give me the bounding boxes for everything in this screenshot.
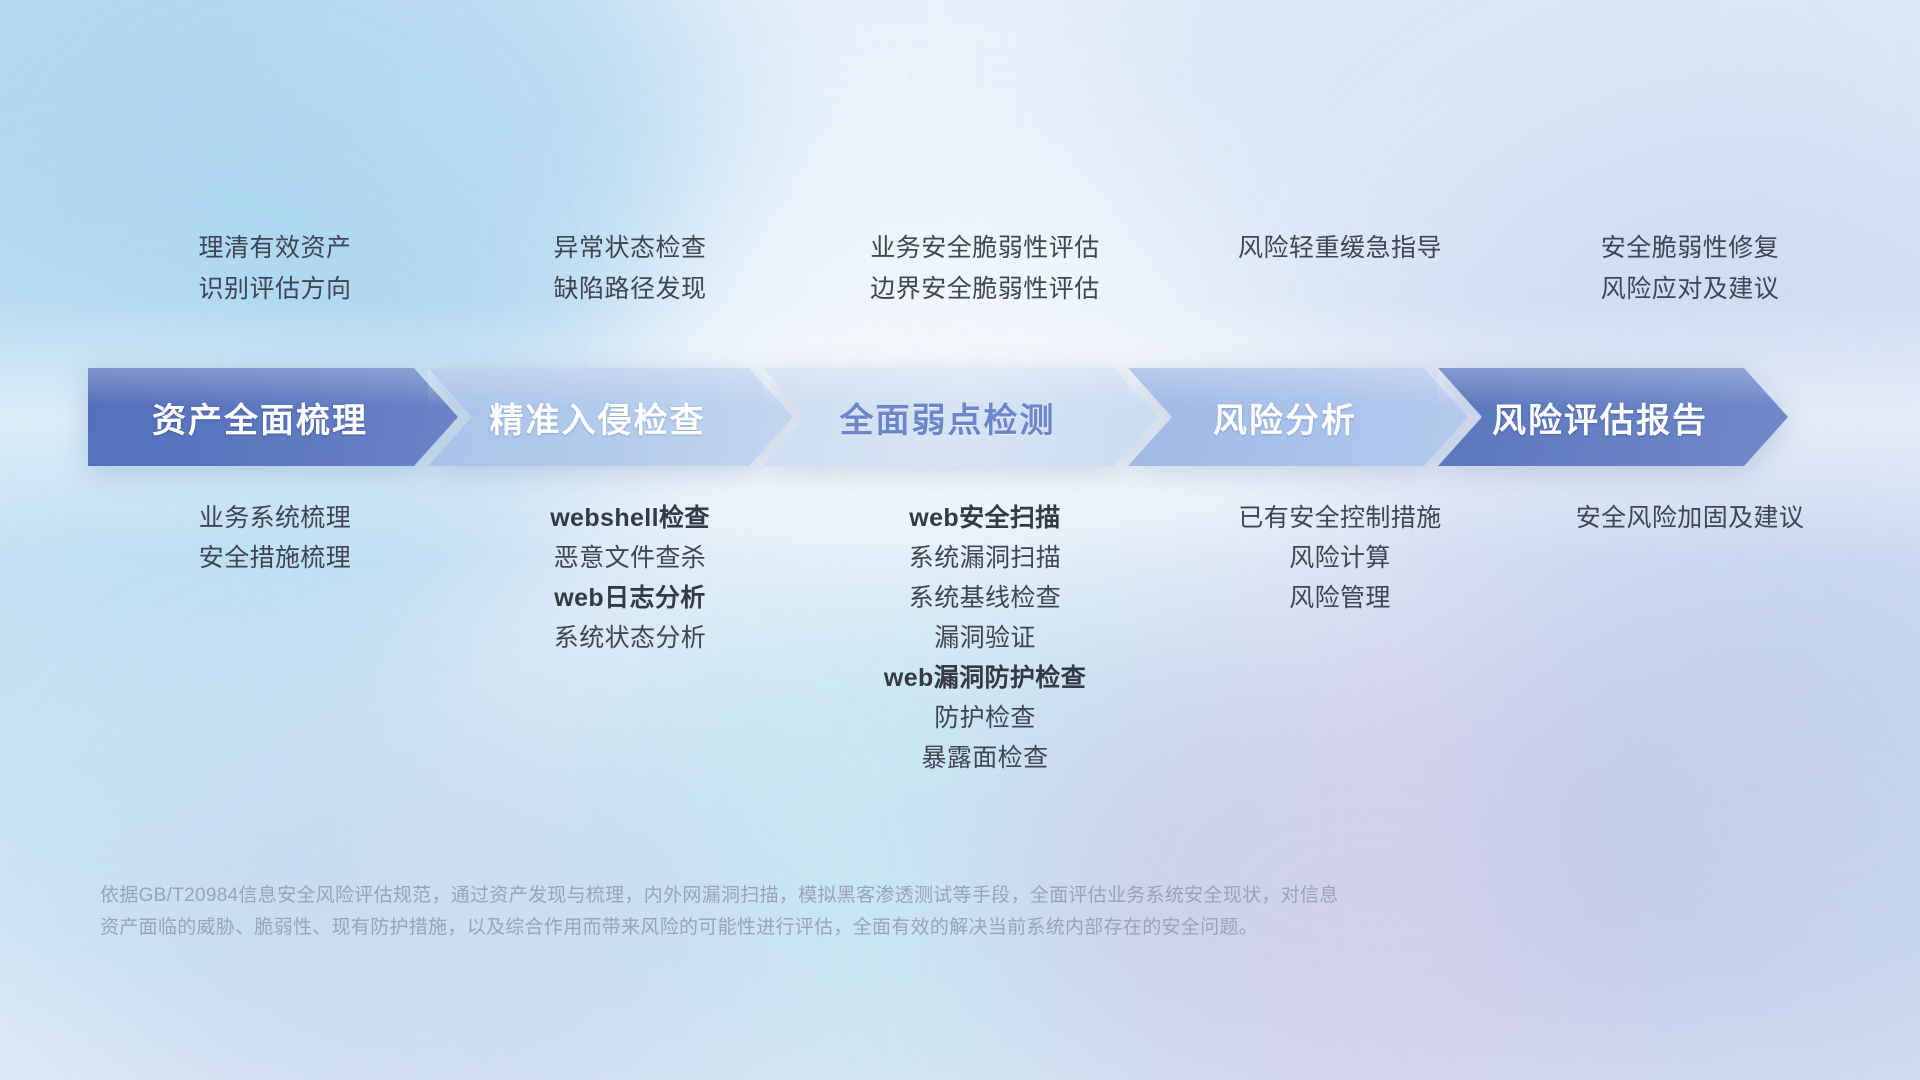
chevron-label: 风险分析: [1213, 393, 1383, 442]
list-item: 暴露面检查: [800, 738, 1170, 778]
chevron-stage-weakness-detection[interactable]: 全面弱点检测: [763, 368, 1158, 466]
list-item: 风险管理: [1170, 578, 1510, 618]
bottom-list-asset-inventory: 业务系统梳理 安全措施梳理: [90, 498, 460, 778]
chevron-label: 风险评估报告: [1492, 393, 1734, 442]
list-item: 系统基线检查: [800, 578, 1170, 618]
top-label-item: 边界安全脆弱性评估: [800, 269, 1170, 310]
chevron-stage-intrusion-check[interactable]: 精准入侵检查: [428, 368, 793, 466]
top-labels-intrusion-check: 异常状态检查 缺陷路径发现: [460, 228, 800, 309]
top-label-item: 风险轻重缓急指导: [1170, 228, 1510, 269]
list-item: 已有安全控制措施: [1170, 498, 1510, 538]
top-labels-risk-analysis: 风险轻重缓急指导: [1170, 228, 1510, 309]
list-item: 系统状态分析: [460, 618, 800, 658]
top-label-item: 业务安全脆弱性评估: [800, 228, 1170, 269]
chevron-label: 精准入侵检查: [490, 393, 732, 442]
top-label-item: 缺陷路径发现: [460, 269, 800, 310]
list-item: web漏洞防护检查: [800, 658, 1170, 698]
list-item: 风险计算: [1170, 538, 1510, 578]
top-label-item: 识别评估方向: [90, 269, 460, 310]
chevron-label: 资产全面梳理: [152, 393, 394, 442]
top-labels-risk-report: 安全脆弱性修复 风险应对及建议: [1510, 228, 1870, 309]
process-chevron-banner: 资产全面梳理 精准入侵检查 全面弱点检测 风险分析 风险评估报告: [88, 368, 1848, 466]
chevron-label: 全面弱点检测: [840, 393, 1082, 442]
chevron-stage-asset-inventory[interactable]: 资产全面梳理: [88, 368, 458, 466]
top-label-item: 安全脆弱性修复: [1510, 228, 1870, 269]
top-label-item: 风险应对及建议: [1510, 269, 1870, 310]
list-item: webshell检查: [460, 498, 800, 538]
chevron-stage-risk-report[interactable]: 风险评估报告: [1438, 368, 1788, 466]
bottom-list-risk-analysis: 已有安全控制措施 风险计算 风险管理: [1170, 498, 1510, 778]
top-label-row: 理清有效资产 识别评估方向 异常状态检查 缺陷路径发现 业务安全脆弱性评估 边界…: [90, 228, 1860, 309]
bottom-list-risk-report: 安全风险加固及建议: [1510, 498, 1870, 778]
list-item: 系统漏洞扫描: [800, 538, 1170, 578]
list-item: 防护检查: [800, 698, 1170, 738]
list-item: 漏洞验证: [800, 618, 1170, 658]
list-item: 安全措施梳理: [90, 538, 460, 578]
bottom-list-intrusion-check: webshell检查 恶意文件查杀 web日志分析 系统状态分析: [460, 498, 800, 778]
list-item: web日志分析: [460, 578, 800, 618]
top-labels-asset-inventory: 理清有效资产 识别评估方向: [90, 228, 460, 309]
footer-description: 依据GB/T20984信息安全风险评估规范，通过资产发现与梳理，内外网漏洞扫描，…: [100, 880, 1620, 945]
chevron-stage-risk-analysis[interactable]: 风险分析: [1128, 368, 1468, 466]
top-labels-weakness-detection: 业务安全脆弱性评估 边界安全脆弱性评估: [800, 228, 1170, 309]
footer-line-2: 资产面临的威胁、脆弱性、现有防护措施，以及综合作用而带来风险的可能性进行评估，全…: [100, 912, 1620, 944]
footer-line-1: 依据GB/T20984信息安全风险评估规范，通过资产发现与梳理，内外网漏洞扫描，…: [100, 880, 1620, 912]
top-label-item: 异常状态检查: [460, 228, 800, 269]
bottom-list-row: 业务系统梳理 安全措施梳理 webshell检查 恶意文件查杀 web日志分析 …: [90, 498, 1860, 778]
list-item: 业务系统梳理: [90, 498, 460, 538]
list-item: web安全扫描: [800, 498, 1170, 538]
bottom-list-weakness-detection: web安全扫描 系统漏洞扫描 系统基线检查 漏洞验证 web漏洞防护检查 防护检…: [800, 498, 1170, 778]
top-label-item: 理清有效资产: [90, 228, 460, 269]
list-item: 恶意文件查杀: [460, 538, 800, 578]
diagram-root: 理清有效资产 识别评估方向 异常状态检查 缺陷路径发现 业务安全脆弱性评估 边界…: [0, 0, 1920, 1080]
list-item: 安全风险加固及建议: [1510, 498, 1870, 538]
